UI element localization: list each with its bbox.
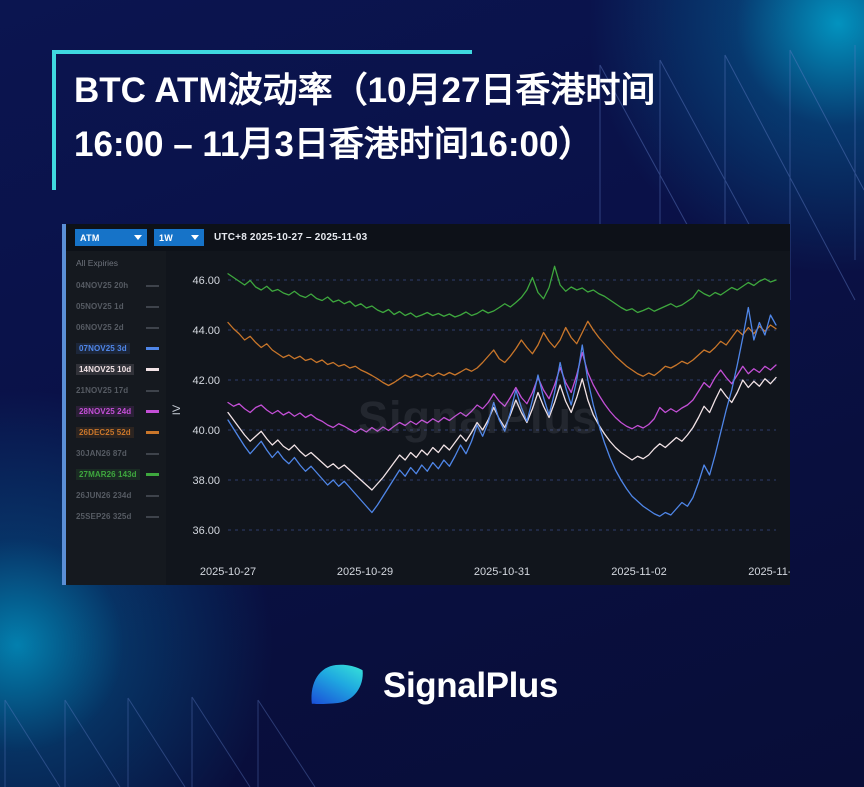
legend-item-label: 30JAN26 87d	[76, 449, 127, 458]
product-dropdown[interactable]: ATM	[75, 229, 147, 246]
chevron-down-icon	[191, 235, 199, 240]
legend-item[interactable]: 26JUN26 234d	[66, 485, 166, 506]
chart-series-line	[228, 378, 776, 491]
y-axis-tick-label: 38.00	[192, 475, 220, 487]
legend-item-swatch	[146, 453, 159, 455]
legend-item[interactable]: 25SEP26 325d	[66, 506, 166, 527]
y-axis-tick-label: 36.00	[192, 525, 220, 537]
legend-item-swatch	[146, 516, 159, 518]
legend-item-swatch	[146, 285, 159, 287]
y-axis-tick-label: 42.00	[192, 375, 220, 387]
brand-footer: SignalPlus	[0, 648, 864, 724]
product-dropdown-label: ATM	[80, 233, 124, 243]
legend-item-swatch	[146, 327, 159, 329]
date-range-label: UTC+8 2025-10-27 – 2025-11-03	[214, 232, 367, 243]
legend-item[interactable]: 27MAR26 143d	[66, 464, 166, 485]
tenor-dropdown-label: 1W	[159, 233, 181, 243]
legend-item-swatch	[146, 410, 159, 413]
expiry-legend: All Expiries 04NOV25 20h05NOV25 1d06NOV2…	[66, 251, 166, 585]
chart-series-line	[228, 353, 776, 433]
x-axis-tick-label: 2025-10-27	[200, 566, 256, 578]
legend-item[interactable]: 05NOV25 1d	[66, 296, 166, 317]
page-title: BTC ATM波动率（10月27日香港时间 16:00 – 11月3日香港时间1…	[74, 64, 814, 173]
chart-plot-area: 36.0038.0040.0042.0044.0046.00IV2025-10-…	[166, 251, 790, 585]
legend-item[interactable]: 04NOV25 20h	[66, 275, 166, 296]
chart-series-line	[228, 266, 776, 317]
legend-item-label: 21NOV25 17d	[76, 386, 128, 395]
legend-item-label: 06NOV25 2d	[76, 323, 124, 332]
tenor-dropdown[interactable]: 1W	[154, 229, 204, 246]
x-axis-tick-label: 2025-11-02	[611, 566, 666, 578]
legend-item[interactable]: 26DEC25 52d	[66, 422, 166, 443]
x-axis-tick-label: 2025-10-29	[337, 566, 393, 578]
legend-item[interactable]: 07NOV25 3d	[66, 338, 166, 359]
legend-header-label: All Expiries	[76, 258, 118, 268]
y-axis-title: IV	[171, 404, 183, 415]
legend-item-label: 26DEC25 52d	[76, 427, 134, 438]
chart-panel: ATM 1W UTC+8 2025-10-27 – 2025-11-03 All…	[62, 224, 790, 585]
title-block: BTC ATM波动率（10月27日香港时间 16:00 – 11月3日香港时间1…	[52, 50, 812, 190]
legend-item-swatch	[146, 368, 159, 371]
chart-toolbar: ATM 1W UTC+8 2025-10-27 – 2025-11-03	[66, 224, 790, 251]
legend-item-swatch	[146, 495, 159, 497]
legend-item-label: 27MAR26 143d	[76, 469, 140, 480]
legend-item[interactable]: 06NOV25 2d	[66, 317, 166, 338]
y-axis-tick-label: 44.00	[192, 325, 220, 337]
legend-item-label: 05NOV25 1d	[76, 302, 124, 311]
y-axis-tick-label: 40.00	[192, 425, 220, 437]
legend-item-swatch	[146, 390, 159, 392]
y-axis-tick-label: 46.00	[192, 275, 220, 287]
legend-item-swatch	[146, 306, 159, 308]
legend-item-swatch	[146, 347, 159, 350]
legend-item-label: 07NOV25 3d	[76, 343, 130, 354]
chart-series-line	[228, 321, 776, 385]
legend-item-swatch	[146, 431, 159, 434]
legend-item-swatch	[146, 473, 159, 476]
legend-item[interactable]: 21NOV25 17d	[66, 380, 166, 401]
x-axis-tick-label: 2025-11-04	[748, 566, 790, 578]
legend-header: All Expiries	[66, 251, 166, 275]
legend-item[interactable]: 30JAN26 87d	[66, 443, 166, 464]
chevron-down-icon	[134, 235, 142, 240]
legend-item[interactable]: 28NOV25 24d	[66, 401, 166, 422]
x-axis-tick-label: 2025-10-31	[474, 566, 530, 578]
legend-item-label: 14NOV25 10d	[76, 364, 134, 375]
brand-name: SignalPlus	[383, 666, 558, 706]
legend-item-label: 25SEP26 325d	[76, 512, 131, 521]
legend-item-label: 26JUN26 234d	[76, 491, 131, 500]
signalplus-logo-icon	[306, 659, 368, 713]
legend-item-label: 28NOV25 24d	[76, 406, 134, 417]
chart-series-line	[228, 308, 776, 517]
legend-item-label: 04NOV25 20h	[76, 281, 128, 290]
legend-item[interactable]: 14NOV25 10d	[66, 359, 166, 380]
